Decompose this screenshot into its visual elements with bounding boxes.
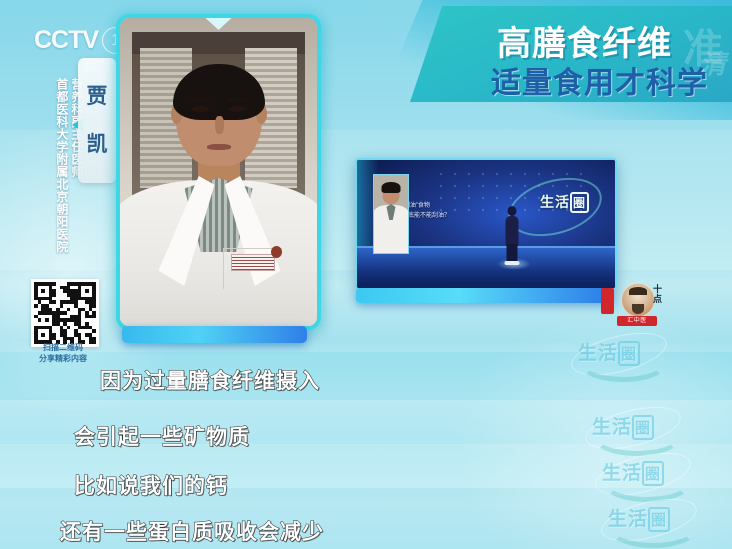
studio-picture-in-picture [373, 174, 409, 254]
qr-caption-line-1: 扫描二维码 [24, 343, 102, 354]
guest-eye-right [229, 106, 246, 112]
title-line-2: 适量食用才科学 [491, 58, 708, 102]
watermark-logo-text: 生活圈 [578, 338, 640, 366]
qr-code-caption: 扫描二维码 分享精彩内容 [24, 343, 102, 365]
guest-video-stand [122, 326, 307, 343]
studio-caption-line-2: 到底能不能刮油？ [402, 212, 450, 222]
subtitle-line-1: 因为过量膳食纤维摄入 [100, 365, 320, 395]
badge-red-tab [601, 288, 614, 314]
watermark-text: 生活 [592, 417, 632, 438]
guest-nose [215, 116, 224, 134]
host-legs [507, 244, 518, 262]
watermark-text: 生活 [578, 343, 618, 364]
watermark-box: 圈 [632, 415, 654, 440]
guest-name-char-1: 贾 [78, 86, 116, 108]
program-corner-badge: 十 点 汇中医 [601, 283, 669, 327]
host-head [508, 206, 517, 216]
subtitle-line-2: 会引起一些矿物质 [74, 421, 250, 451]
guest-name-badge [231, 254, 275, 271]
watermark-logo-text: 生活圈 [608, 504, 670, 532]
guest-nameplate: 贾 凯 [78, 58, 116, 183]
tv-broadcast-screen: CCTV 1 综 合 营养科副主任医师 首都医科大学附属北京朝阳医院 贾 凯 扫… [0, 0, 732, 549]
program-watermark-2: 生活圈 [580, 404, 684, 450]
badge-portrait-avatar [621, 283, 655, 317]
watermark-text: 生活 [608, 509, 648, 530]
studio-monitor: 生活圈 “刮油”食物 到底能不能刮油？ [355, 158, 617, 290]
watermark-box: 圈 [648, 507, 670, 532]
badge-vertical-text: 十 点 [653, 285, 662, 305]
watermark-box: 圈 [618, 341, 640, 366]
guest-affiliation-line: 首都医科大学附属北京朝阳医院 [55, 78, 69, 278]
badge-char-2: 点 [653, 295, 662, 305]
subtitle-line-3: 比如说我们的钙 [74, 470, 228, 500]
program-watermark-1: 生活圈 [566, 330, 670, 376]
guest-eyebrow-left [190, 98, 210, 102]
program-watermark-3: 生活圈 [590, 450, 694, 496]
guest-lapel-pin [271, 246, 282, 258]
program-logo: 生活圈 [536, 190, 593, 215]
watermark-logo-text: 生活圈 [592, 412, 654, 440]
badge-portrait-beard [632, 304, 644, 314]
program-watermark-4: 生活圈 [596, 496, 700, 542]
qr-caption-line-2: 分享精彩内容 [24, 354, 102, 365]
program-logo-box: 圈 [570, 192, 589, 213]
watermark-logo-text: 生活圈 [602, 458, 664, 486]
cctv-channel-logo: CCTV 1 [34, 26, 129, 55]
studio-caption-line-1: “刮油”食物 [402, 202, 450, 212]
watermark-text: 生活 [602, 463, 642, 484]
host-shoes [505, 261, 520, 265]
badge-red-label: 汇中医 [617, 316, 657, 326]
studio-lower-third: “刮油”食物 到底能不能刮油？ [402, 202, 450, 221]
qr-code-matrix [34, 282, 96, 344]
guest-eye-left [192, 106, 209, 112]
pip-hair [382, 182, 401, 193]
guest-eyebrow-right [228, 98, 248, 102]
qr-code[interactable] [31, 279, 99, 347]
program-logo-text: 生活 [540, 194, 570, 210]
cctv-wordmark: CCTV [34, 26, 98, 55]
studio-host-silhouette [505, 206, 519, 264]
studio-monitor-stand [356, 288, 614, 303]
badge-portrait-hair [629, 287, 647, 295]
watermark-box: 圈 [642, 461, 664, 486]
host-body [506, 216, 519, 246]
guest-name-char-2: 凯 [78, 134, 116, 156]
guest-video-window [116, 14, 321, 330]
subtitle-line-4: 还有一些蛋白质吸收会减少 [60, 516, 324, 546]
guest-credentials: 营养科副主任医师 首都医科大学附属北京朝阳医院 [32, 78, 84, 278]
guest-mouth [207, 144, 231, 150]
